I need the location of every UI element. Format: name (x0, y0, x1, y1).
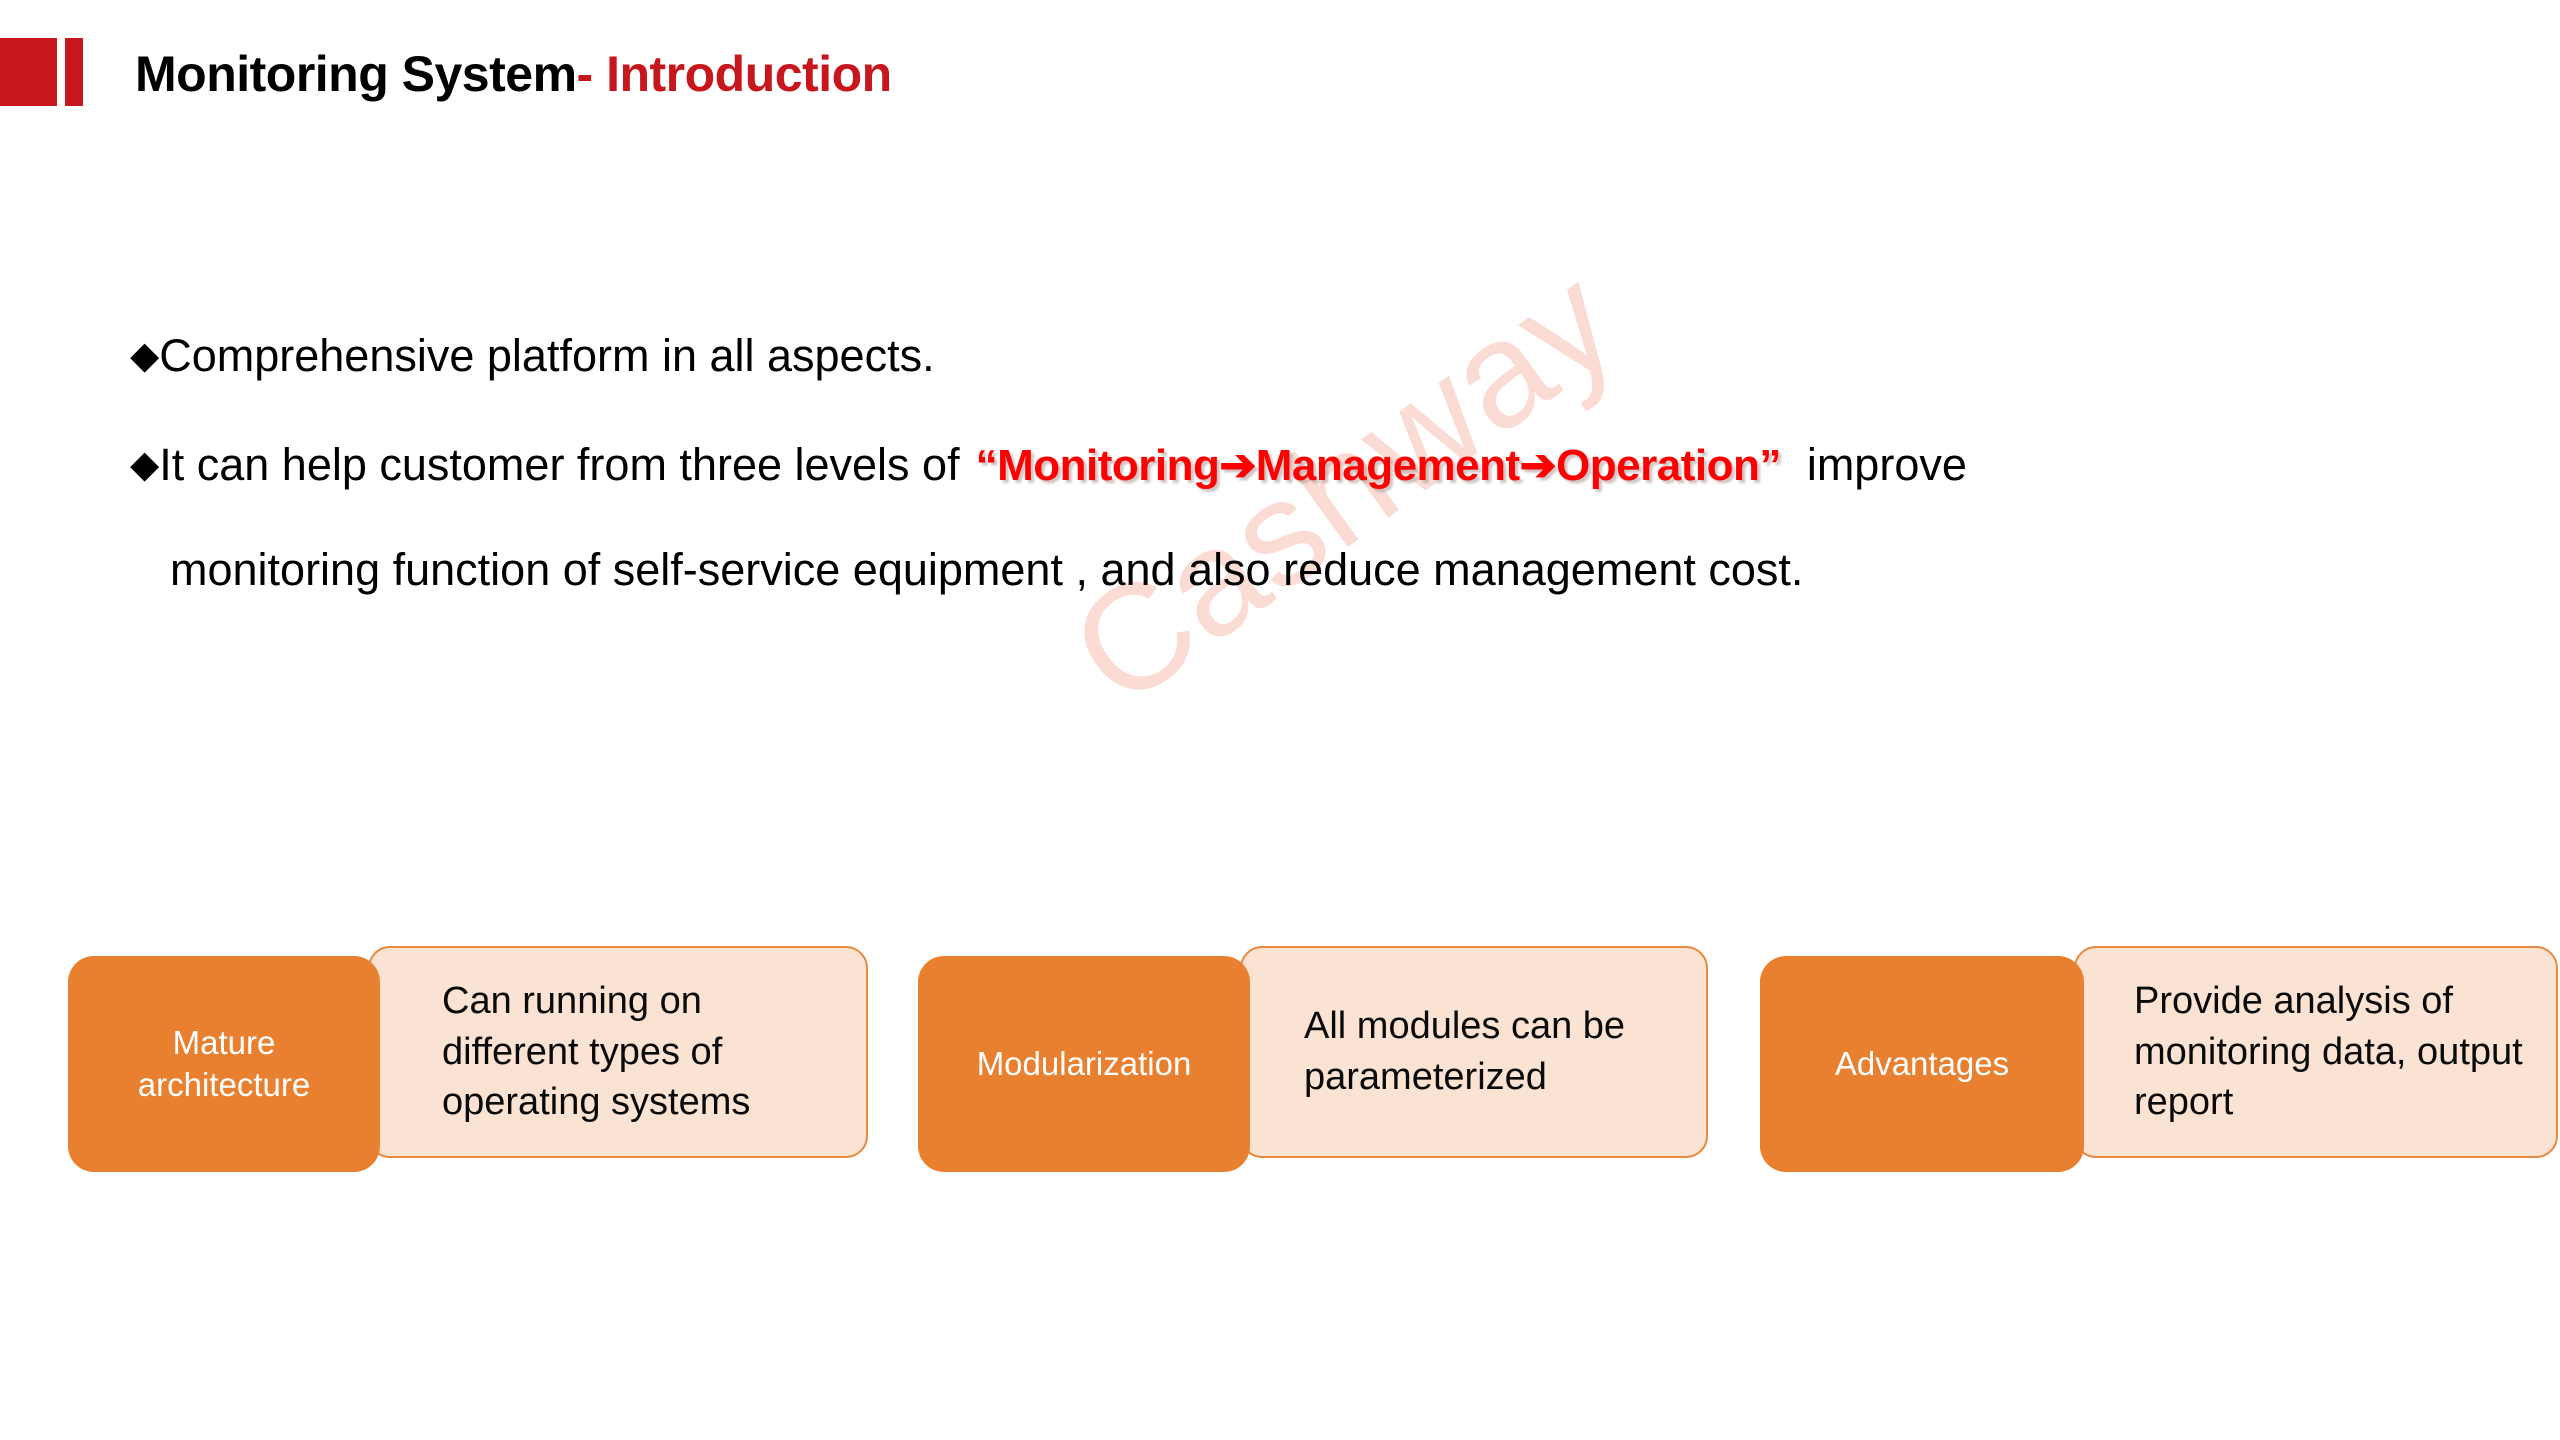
bullet-item-2-text-after: improve (1781, 439, 1967, 490)
feature-card-tab-label-line2: architecture (138, 1066, 310, 1103)
feature-card-body-text: Provide analysis of monitoring data, out… (2134, 976, 2538, 1128)
feature-card-tab[interactable]: Modularization (918, 956, 1250, 1172)
feature-card-tab-label: Maturearchitecture (138, 1022, 310, 1106)
feature-card[interactable]: All modules can be parameterized Modular… (918, 946, 1708, 1172)
feature-card-body: Provide analysis of monitoring data, out… (2074, 946, 2558, 1158)
slide-canvas: Monitoring System- Introduction Cashway … (0, 0, 2560, 1440)
feature-card[interactable]: Provide analysis of monitoring data, out… (1760, 946, 2558, 1172)
title-marker-block-narrow (65, 38, 83, 106)
page-title: Monitoring System- Introduction (135, 49, 892, 99)
bullet-item-2-text-before: It can help customer from three levels o… (159, 439, 959, 490)
bullet-item-2-highlight: “Monitoring➔Management➔Operation” (960, 441, 1781, 490)
feature-card-body: All modules can be parameterized (1240, 946, 1708, 1158)
feature-card-body-text: All modules can be parameterized (1304, 1001, 1688, 1102)
bullet-item-2: ◆It can help customer from three levels … (130, 429, 2490, 502)
title-marker-block-wide (0, 38, 57, 106)
bullet-item-1-text: Comprehensive platform in all aspects. (159, 330, 934, 381)
diamond-bullet-icon: ◆ (130, 335, 159, 377)
slide-body: ◆Comprehensive platform in all aspects. … (130, 320, 2490, 607)
bullet-item-1: ◆Comprehensive platform in all aspects. (130, 320, 2490, 393)
page-title-main: Monitoring System (135, 46, 577, 102)
diamond-bullet-icon: ◆ (130, 444, 159, 486)
feature-card-tab[interactable]: Advantages (1760, 956, 2084, 1172)
feature-card-body: Can running on different types of operat… (368, 946, 868, 1158)
title-marker-gap (57, 38, 65, 106)
feature-card[interactable]: Can running on different types of operat… (68, 946, 868, 1172)
bullet-item-2-continuation: monitoring function of self-service equi… (130, 534, 2490, 607)
feature-card-tab-label: Advantages (1835, 1043, 2009, 1085)
feature-card-body-text: Can running on different types of operat… (442, 976, 848, 1128)
feature-card-tab-label: Modularization (977, 1043, 1192, 1085)
feature-card-row: Can running on different types of operat… (0, 946, 2560, 1176)
page-title-sub: - Introduction (577, 46, 892, 102)
slide-title-bar: Monitoring System- Introduction (0, 38, 892, 106)
feature-card-tab[interactable]: Maturearchitecture (68, 956, 380, 1172)
feature-card-tab-label-line1: Mature (173, 1024, 276, 1061)
